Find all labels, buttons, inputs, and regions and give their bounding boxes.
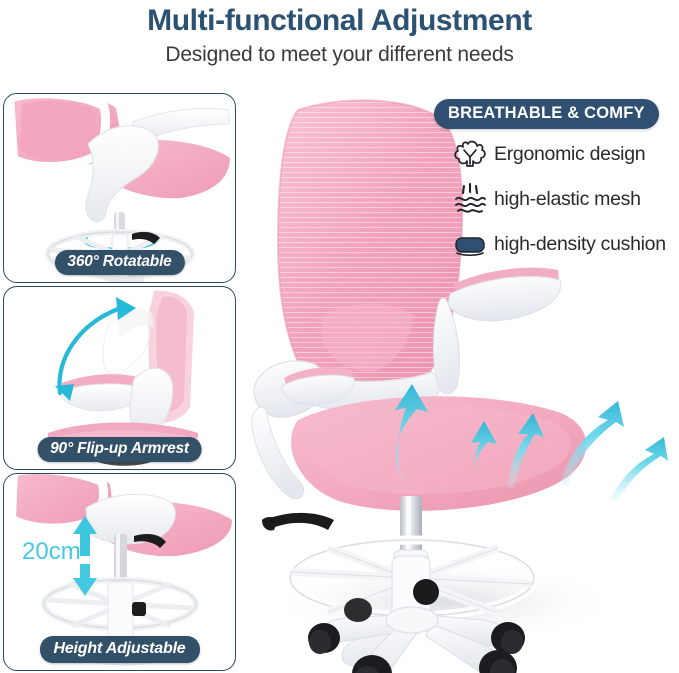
main-product-image: [236, 90, 679, 673]
airflow-waves-icon: [450, 181, 490, 217]
feature-panel-rotatable[interactable]: 360° Rotatable: [3, 93, 236, 283]
page-subtitle: Designed to meet your different needs: [0, 41, 679, 69]
cotton-boll-icon: [450, 136, 490, 172]
header: Multi-functional Adjustment Designed to …: [0, 0, 679, 69]
feature-label-ergonomic: Ergonomic design: [494, 143, 645, 166]
feature-panel-armrest[interactable]: 90° Flip-up Armrest: [3, 286, 236, 470]
page-title: Multi-functional Adjustment: [0, 3, 679, 39]
status-badge: BREATHABLE & COMFY: [434, 99, 659, 129]
infographic-page: Multi-functional Adjustment Designed to …: [0, 0, 679, 673]
feature-row-cushion: high-density cushion: [450, 226, 666, 262]
cushion-icon: [450, 226, 490, 262]
feature-label-mesh: high-elastic mesh: [494, 188, 641, 211]
height-measure-text: 20cm: [22, 538, 81, 565]
panel-label-armrest: 90° Flip-up Armrest: [37, 437, 202, 462]
feature-row-ergonomic: Ergonomic design: [450, 136, 645, 172]
panel-label-rotatable: 360° Rotatable: [54, 250, 184, 275]
feature-label-cushion: high-density cushion: [494, 233, 666, 256]
pink-drafting-chair-illustration: [236, 90, 679, 673]
feature-panel-height[interactable]: 20cm Height Adjustable: [3, 473, 236, 671]
feature-row-mesh: high-elastic mesh: [450, 181, 641, 217]
panel-label-height: Height Adjustable: [39, 636, 199, 663]
